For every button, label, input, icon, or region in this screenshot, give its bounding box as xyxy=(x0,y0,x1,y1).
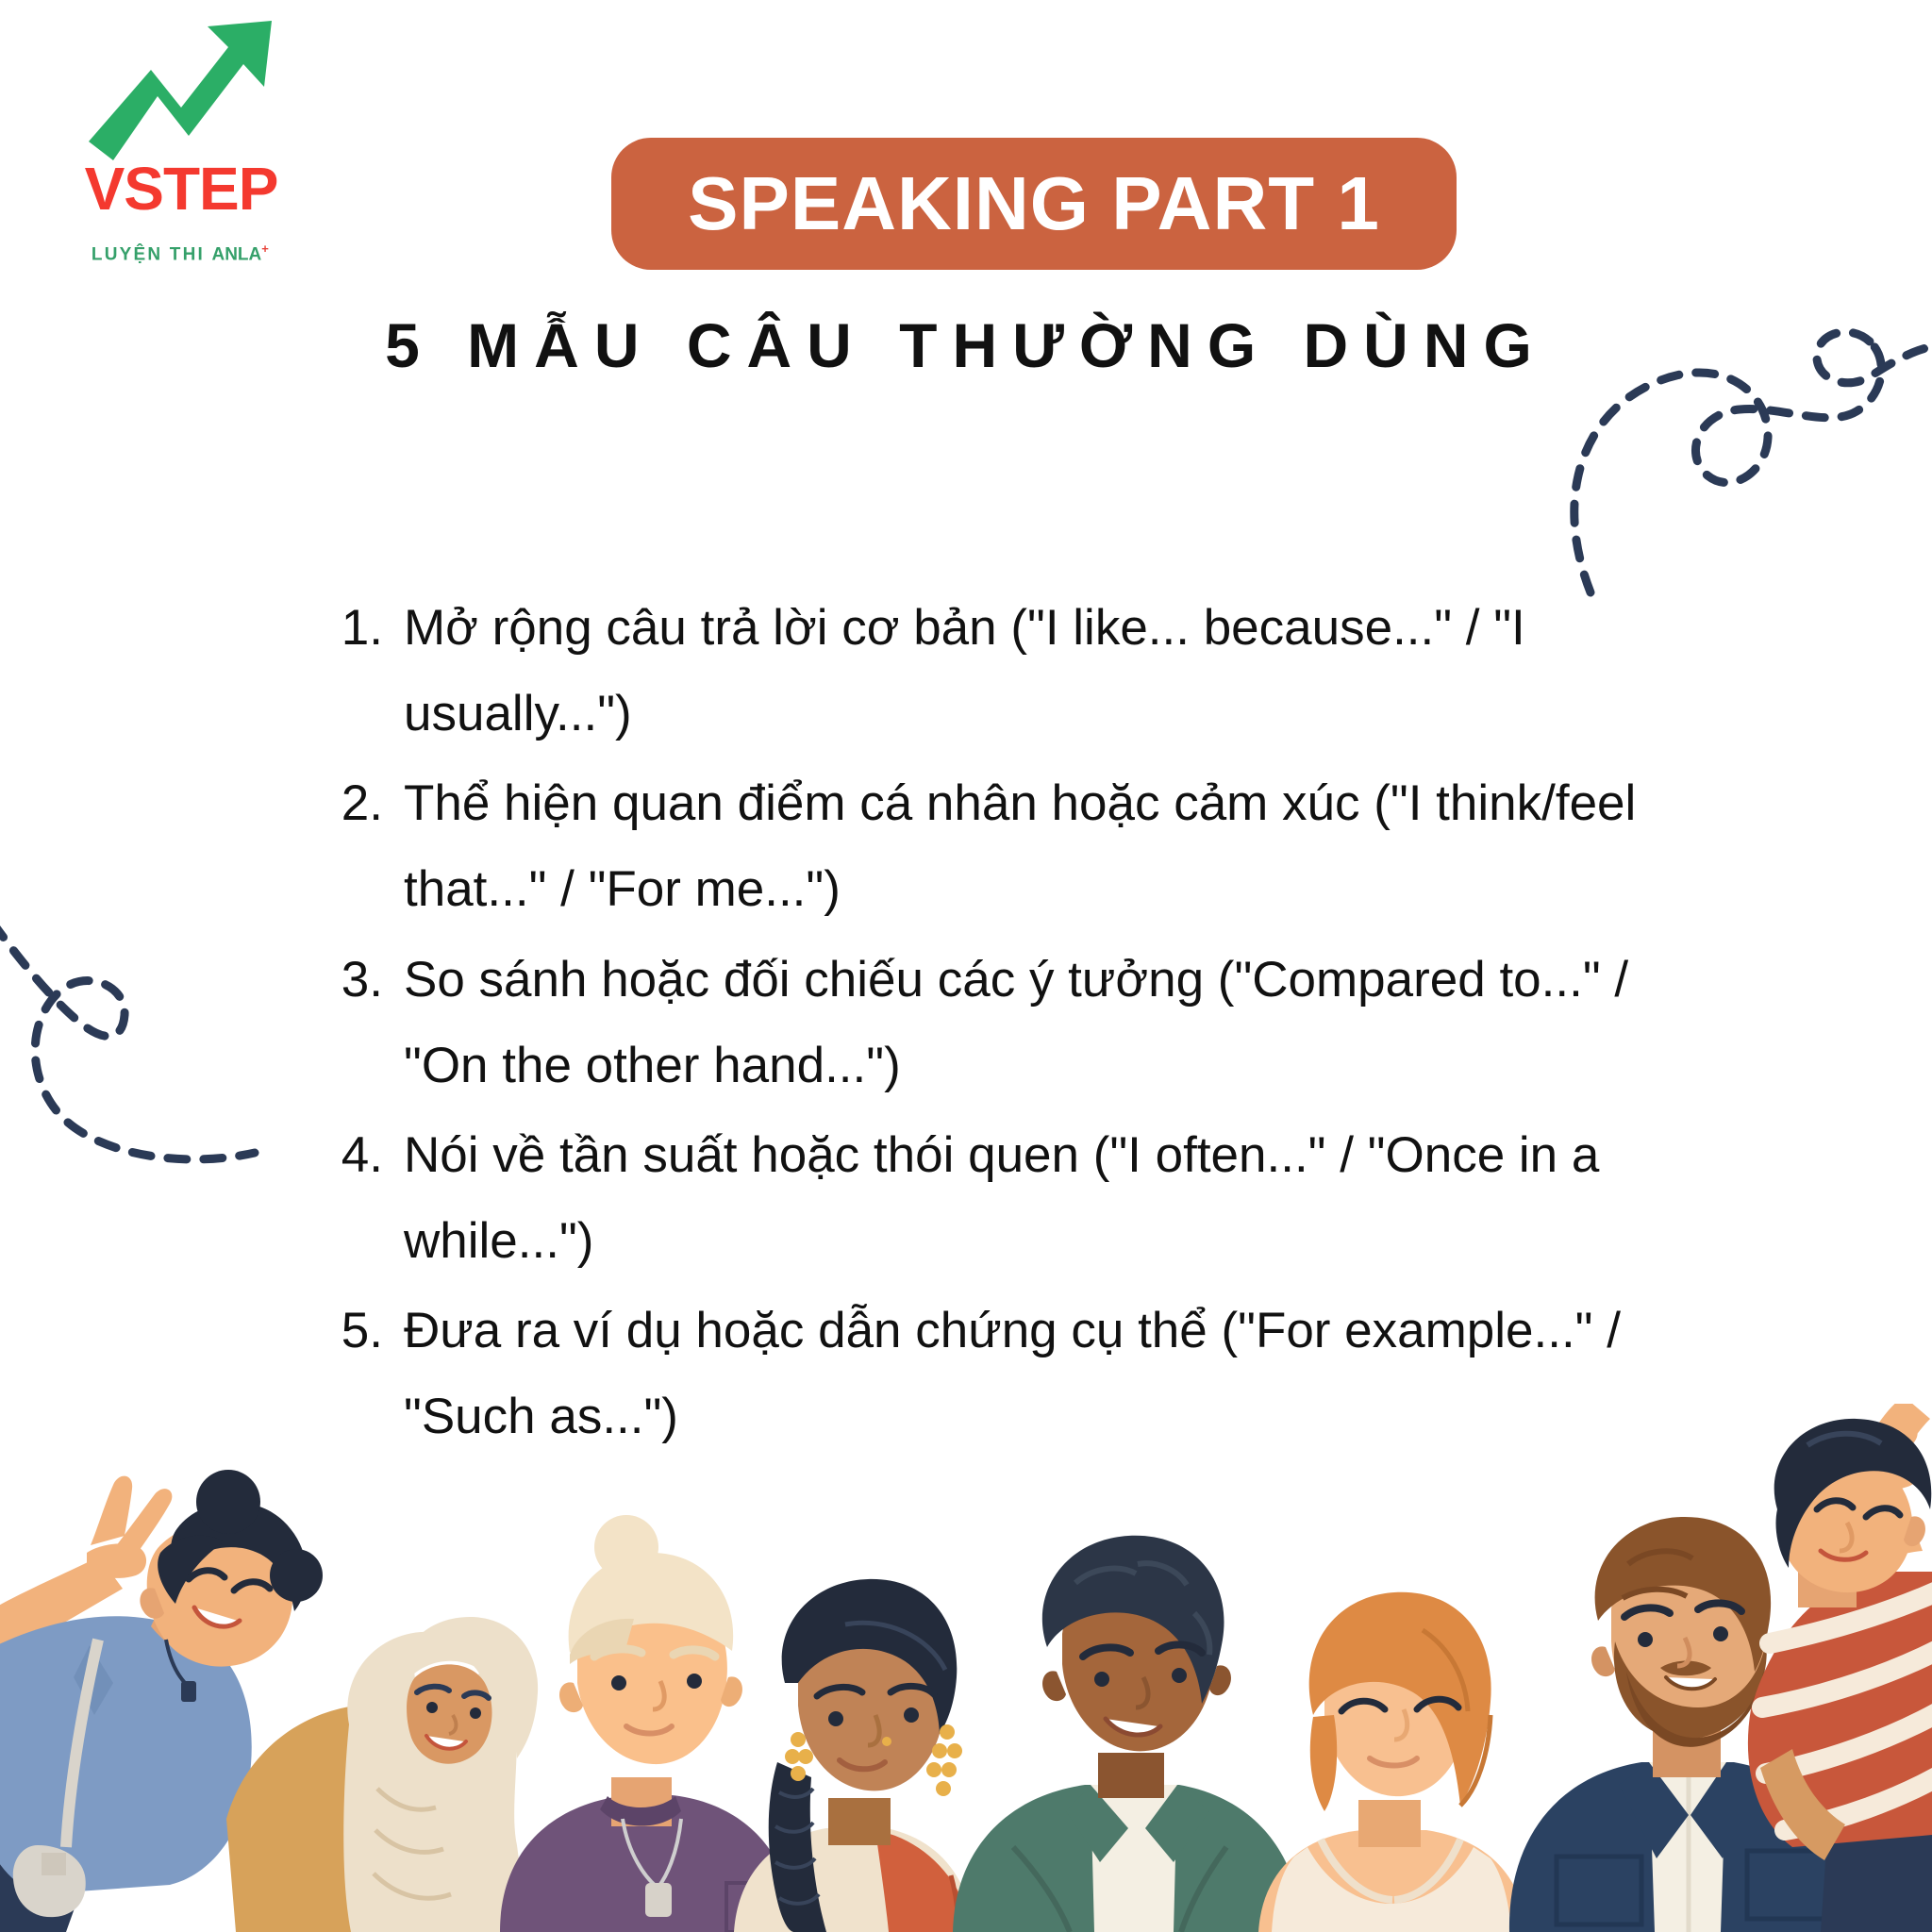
list-item-number: 1. xyxy=(330,585,404,671)
logo-wordmark: VSTEP xyxy=(49,158,313,219)
list-item-number: 5. xyxy=(330,1288,404,1374)
infographic-canvas: VSTEP LUYỆN THI ANLA+ SPEAKING PART 1 5 … xyxy=(0,0,1932,1932)
person-green-jacket xyxy=(953,1536,1302,1932)
list-item-number: 3. xyxy=(330,937,404,1023)
list-item-number: 2. xyxy=(330,760,404,846)
person-blonde-bun-purple-sweater xyxy=(500,1515,798,1932)
list-item: 2. Thể hiện quan điểm cá nhân hoặc cảm x… xyxy=(330,760,1679,932)
logo-tagline: LUYỆN THI ANLA+ xyxy=(49,241,313,265)
list-item-number: 4. xyxy=(330,1112,404,1198)
list-item: 1. Mở rộng câu trả lời cơ bản ("I like..… xyxy=(330,585,1679,757)
list-item: 3. So sánh hoặc đối chiếu các ý tưởng ("… xyxy=(330,937,1679,1108)
list-item-text: Nói về tần suất hoặc thói quen ("I often… xyxy=(404,1112,1679,1284)
person-ginger-white-dress xyxy=(1258,1592,1526,1932)
vstep-logo: VSTEP LUYỆN THI ANLA+ xyxy=(49,17,313,264)
dashed-loop-line-icon xyxy=(0,877,283,1189)
logo-tagline-plus-icon: + xyxy=(261,241,271,256)
banner-title: SPEAKING PART 1 xyxy=(688,166,1380,241)
speaking-part-banner: SPEAKING PART 1 xyxy=(611,138,1457,270)
growth-arrow-icon xyxy=(49,17,313,168)
list-item-text: Mở rộng câu trả lời cơ bản ("I like... b… xyxy=(404,585,1679,757)
list-item: 4. Nói về tần suất hoặc thói quen ("I of… xyxy=(330,1112,1679,1284)
list-item-text: So sánh hoặc đối chiếu các ý tưởng ("Com… xyxy=(404,937,1679,1108)
person-braid-orange-sari xyxy=(734,1579,974,1932)
group-of-diverse-people-illustration xyxy=(0,1404,1932,1932)
page-subtitle: 5 MẪU CÂU THƯỜNG DÙNG xyxy=(0,311,1932,380)
person-hijab-beige xyxy=(226,1617,538,1932)
tip-list: 1. Mở rộng câu trả lời cơ bản ("I like..… xyxy=(330,585,1679,1464)
logo-tagline-brand: ANLA xyxy=(211,244,261,264)
list-item-text: Thể hiện quan điểm cá nhân hoặc cảm xúc … xyxy=(404,760,1679,932)
logo-tagline-prefix: LUYỆN THI xyxy=(92,244,212,264)
